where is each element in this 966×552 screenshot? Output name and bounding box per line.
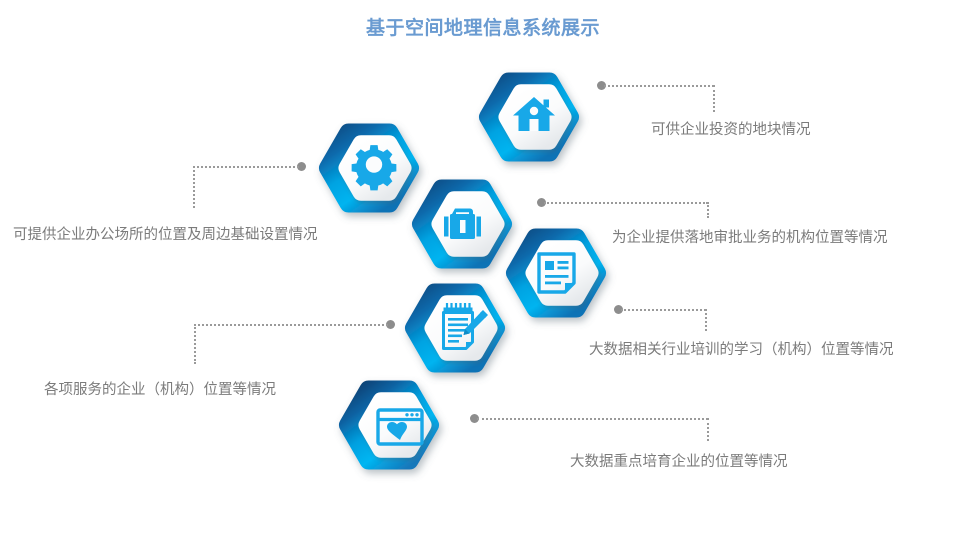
hex-node-home[interactable] bbox=[488, 82, 570, 153]
hex-node-gear[interactable] bbox=[328, 133, 410, 204]
callout-label-key-enterprise: 大数据重点培育企业的位置等情况 bbox=[570, 454, 788, 471]
gear-icon bbox=[352, 145, 397, 190]
callout-label-office-space: 可提供企业办公场所的位置及周边基础设置情况 bbox=[13, 227, 318, 244]
hex-inner-plate bbox=[534, 249, 590, 297]
callout-label-approval-org: 为企业提供落地审批业务的机构位置等情况 bbox=[612, 230, 888, 247]
hex-node-notepad[interactable] bbox=[414, 293, 496, 364]
hex-node-document[interactable] bbox=[515, 238, 597, 309]
callout-label-invest-land: 可供企业投资的地块情况 bbox=[651, 122, 811, 139]
infographic-canvas: 基于空间地理信息系统展示 bbox=[0, 0, 966, 552]
hexagon-cluster bbox=[0, 0, 966, 552]
callout-label-service-org: 各项服务的企业（机构）位置等情况 bbox=[44, 382, 276, 399]
hexagon-cluster-svg bbox=[0, 0, 966, 552]
hex-node-browser-heart[interactable] bbox=[348, 390, 430, 461]
callout-label-training-org: 大数据相关行业培训的学习（机构）位置等情况 bbox=[589, 342, 894, 359]
hex-node-briefcase[interactable] bbox=[421, 189, 503, 260]
